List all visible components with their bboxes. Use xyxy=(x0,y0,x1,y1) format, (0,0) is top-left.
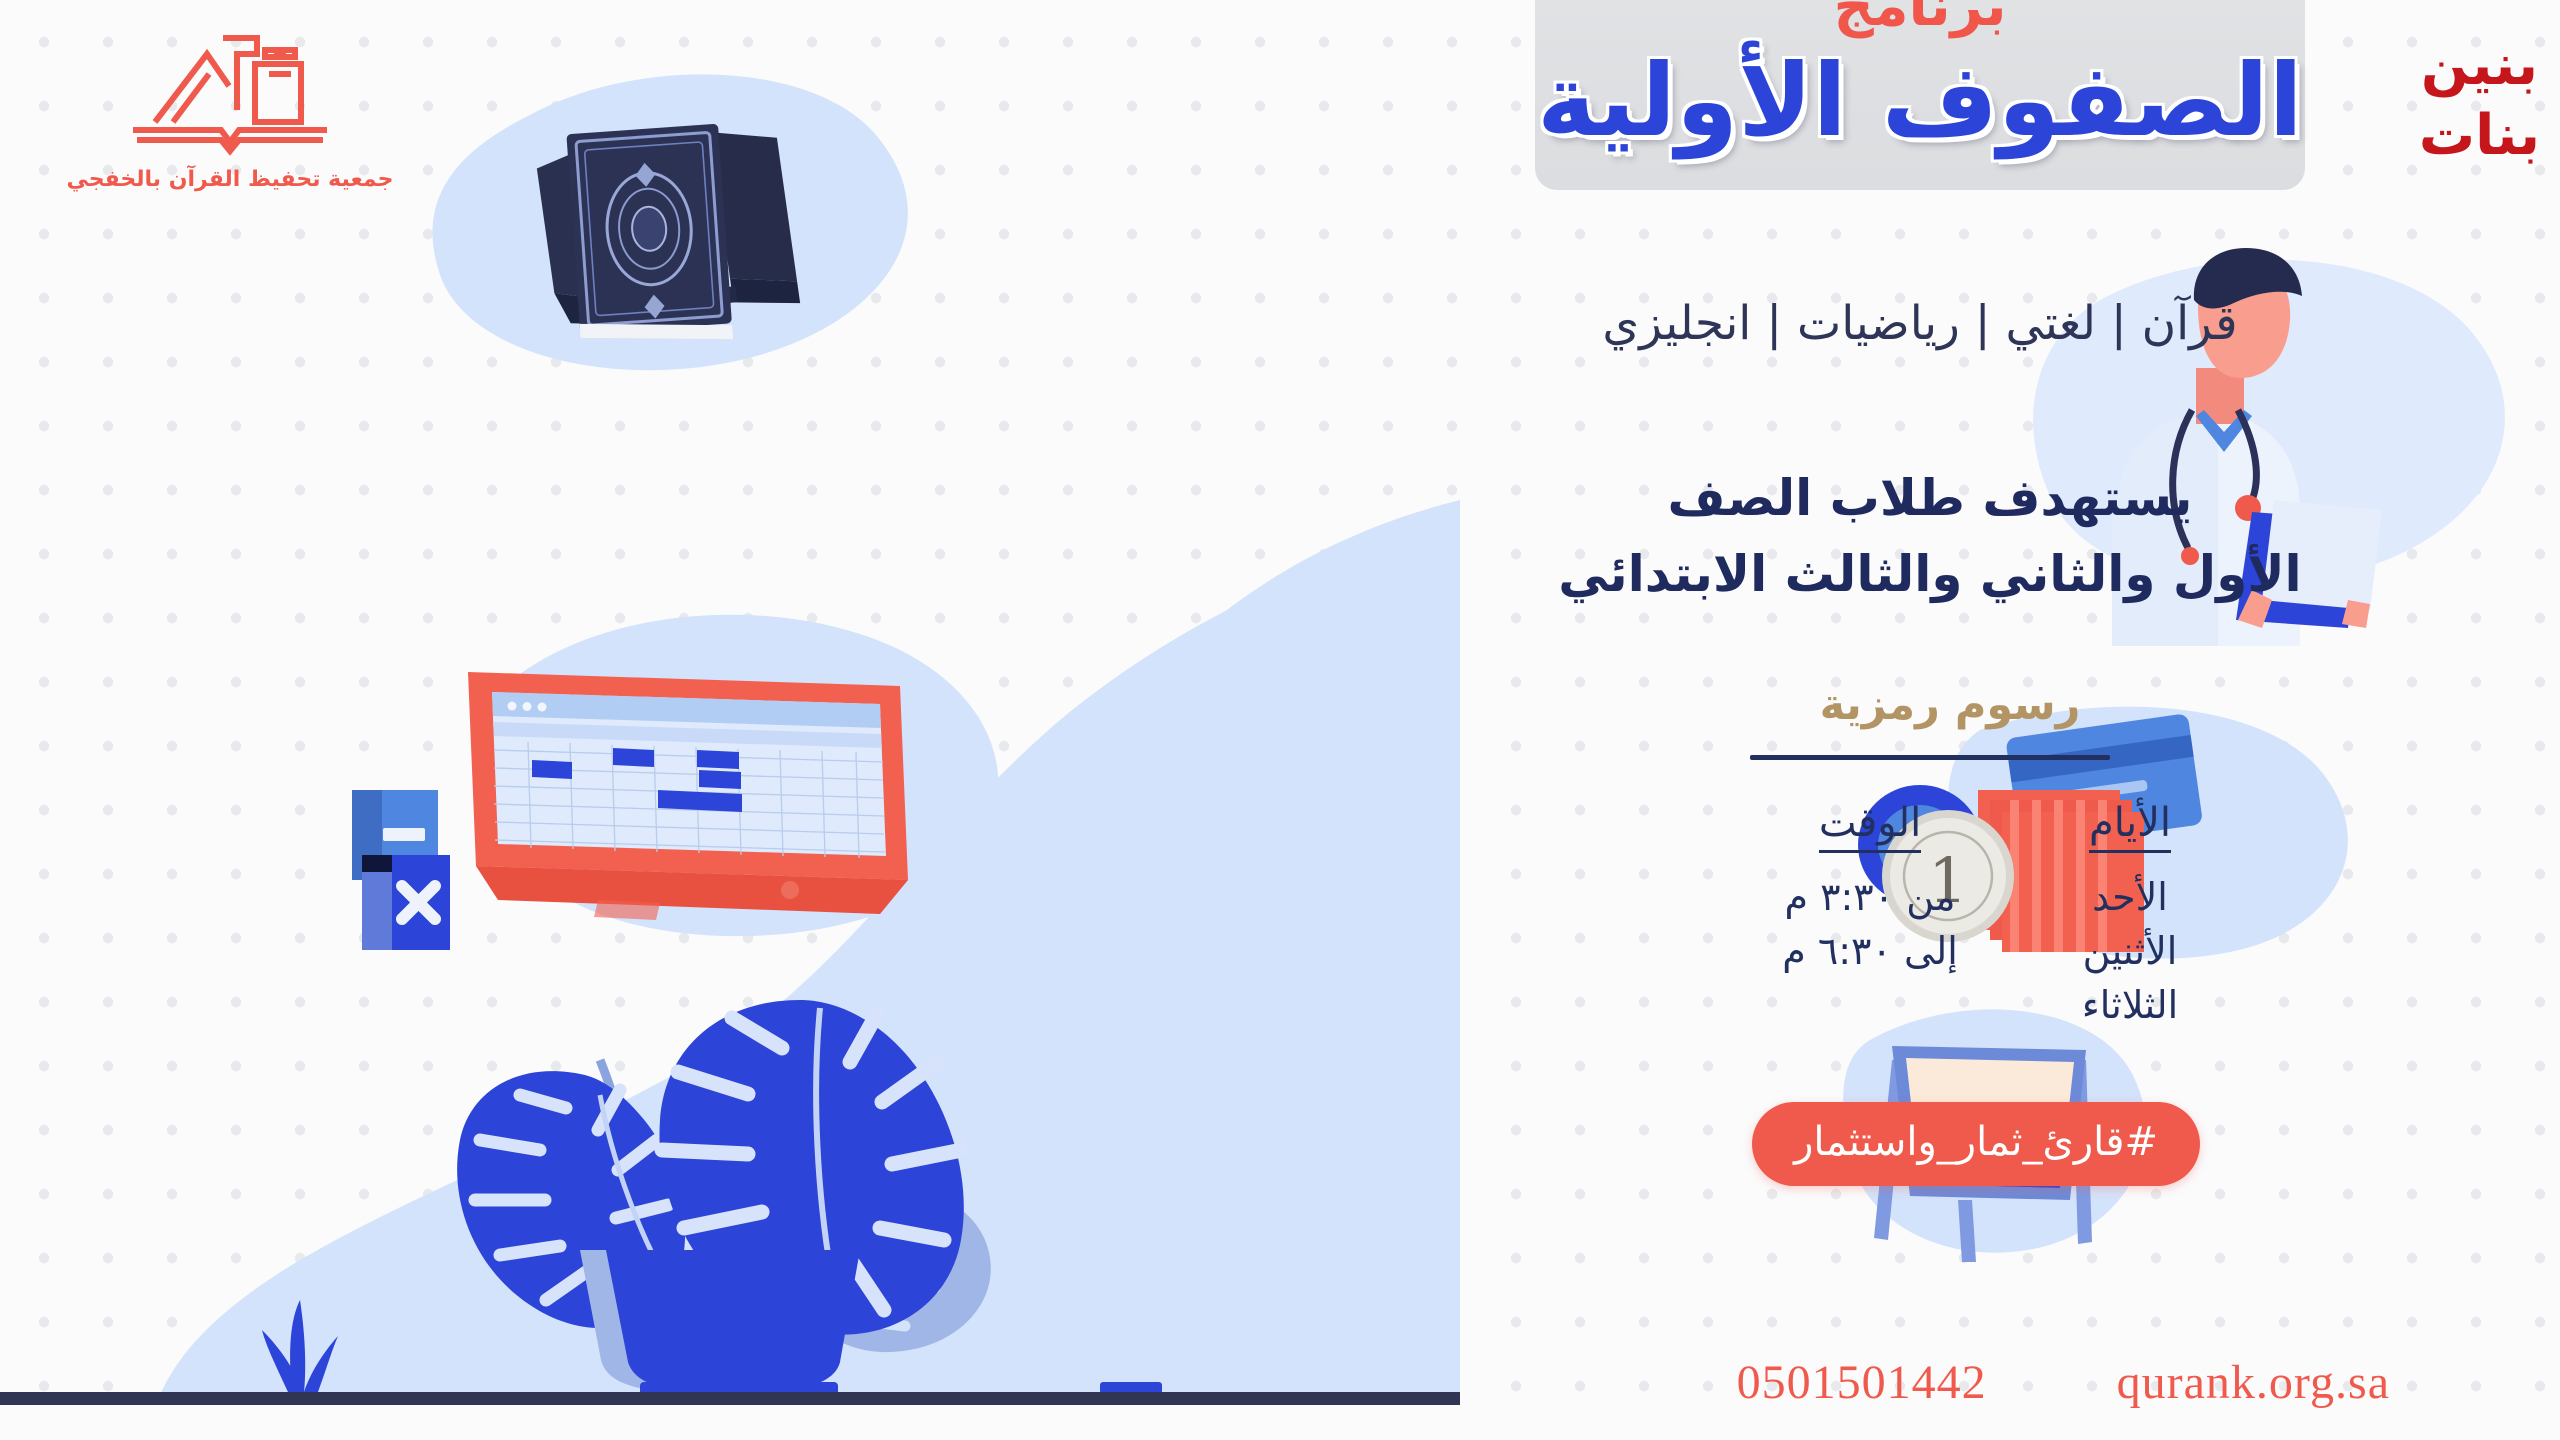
logo-caption: جمعية تحفيظ القرآن بالخفجي xyxy=(65,167,395,192)
footer-contact: 0501501442 qurank.org.sa xyxy=(1590,1355,2390,1410)
poster-canvas: 1 xyxy=(0,0,2560,1440)
schedule-cell-time: من ٣:٣٠ م xyxy=(1770,871,1970,925)
schedule-cell-day: الأثنين xyxy=(2030,925,2230,979)
fees-label: رسوم رمزية xyxy=(1670,680,2230,730)
page-title: الصفوف الأولية xyxy=(1535,40,2305,162)
quran-on-rehal-illustration xyxy=(433,74,908,370)
schedule-header-time: الوقت xyxy=(1819,800,1921,853)
contact-phone[interactable]: 0501501442 xyxy=(1737,1355,1987,1410)
spreadsheet-screen-illustration xyxy=(352,615,998,950)
schedule-cell-day: الأحد xyxy=(2030,871,2230,925)
title-block: برنامج الصفوف الأولية xyxy=(1535,0,2305,162)
target-line-1: يستهدف طلاب الصف xyxy=(1530,460,2330,536)
schedule-cell-day: الثلاثاء xyxy=(2030,979,2230,1033)
contact-website[interactable]: qurank.org.sa xyxy=(2117,1355,2390,1410)
association-logo: جمعية تحفيظ القرآن بالخفجي xyxy=(65,30,395,192)
schedule-header-days: الأيام xyxy=(2089,800,2171,853)
close-block-icon xyxy=(362,855,450,950)
schedule-table: الأيام الأحد الأثنين الثلاثاء الوقت من ٣… xyxy=(1770,800,2230,1033)
gender-badge-boys: بنين xyxy=(2419,38,2540,94)
gender-badges: بنين بنات xyxy=(2419,38,2540,178)
quran-association-logo-icon xyxy=(125,30,335,160)
schedule-column-time: الوقت من ٣:٣٠ م إلى ٦:٣٠ م xyxy=(1770,800,1970,979)
content-panel: بنين بنات برنامج الصفوف الأولية قرآن | ل… xyxy=(1440,0,2560,1440)
hashtag-button[interactable]: #قارئ_ثمار_واستثمار xyxy=(1752,1102,2200,1186)
schedule-column-days: الأيام الأحد الأثنين الثلاثاء xyxy=(2030,800,2230,1033)
program-kicker: برنامج xyxy=(1535,0,2305,38)
target-line-2: الأول والثاني والثالث الابتدائي xyxy=(1530,536,2330,612)
illustration-panel xyxy=(0,0,1460,1440)
schedule-cell-time: إلى ٦:٣٠ م xyxy=(1770,925,1970,979)
subjects-line: قرآن | لغتي | رياضيات | انجليزي xyxy=(1535,296,2305,351)
target-audience: يستهدف طلاب الصف الأول والثاني والثالث ا… xyxy=(1530,460,2330,612)
gender-badge-girls: بنات xyxy=(2419,108,2540,164)
divider-rule xyxy=(1750,755,2110,760)
